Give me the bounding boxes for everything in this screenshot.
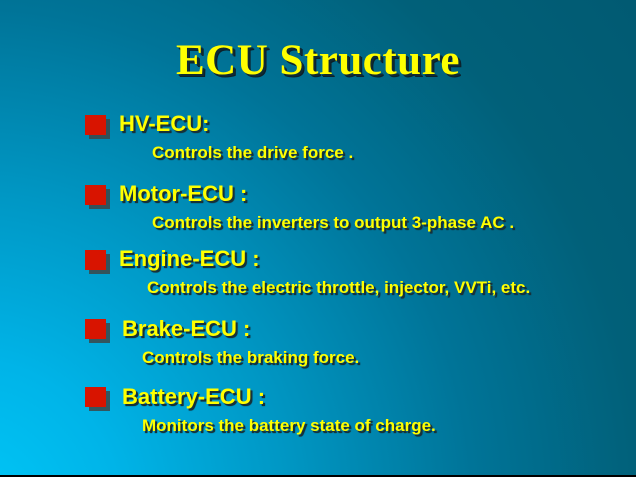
bullet-detail: Controls the electric throttle, injector… (147, 278, 530, 297)
red-square-bullet-icon (85, 250, 106, 270)
bullet-detail: Controls the drive force . (152, 143, 353, 162)
red-square-bullet-icon (85, 319, 106, 339)
presentation-slide: ECU Structure HV-ECU: Controls the drive… (0, 0, 636, 477)
red-square-bullet-icon (85, 115, 106, 135)
page-title: ECU Structure (0, 38, 636, 84)
bullet-heading: Engine-ECU : (119, 247, 260, 271)
bullet-heading: HV-ECU: (119, 112, 209, 136)
bullet-detail: Monitors the battery state of charge. (142, 416, 436, 435)
red-square-bullet-icon (85, 185, 106, 205)
bullet-heading: Battery-ECU : (122, 385, 265, 409)
bullet-detail: Controls the inverters to output 3-phase… (152, 213, 514, 232)
red-square-bullet-icon (85, 387, 106, 407)
bullet-detail: Controls the braking force. (142, 348, 359, 367)
bullet-heading: Motor-ECU : (119, 182, 247, 206)
bullet-heading: Brake-ECU : (122, 317, 250, 341)
